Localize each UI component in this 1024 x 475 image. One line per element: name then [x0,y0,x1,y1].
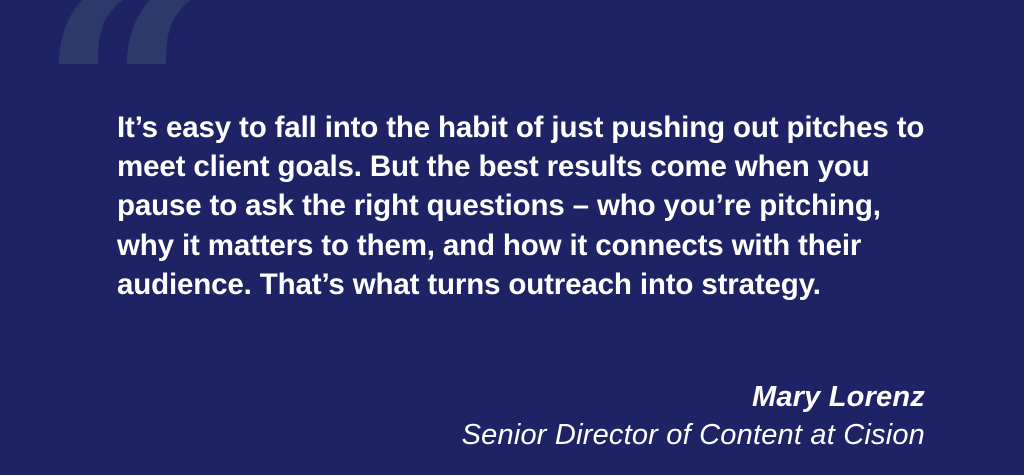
quote-line: why it matters to them, and how it conne… [117,226,927,265]
quote-slide: “ It’s easy to fall into the habit of ju… [0,0,1024,475]
attribution-block: Mary Lorenz Senior Director of Content a… [462,378,925,454]
attribution-name: Mary Lorenz [462,378,925,416]
quote-line: pause to ask the right questions – who y… [117,186,927,225]
quote-line: It’s easy to fall into the habit of just… [117,108,927,147]
quote-text-block: It’s easy to fall into the habit of just… [117,108,927,304]
quote-line: meet client goals. But the best results … [117,147,927,186]
attribution-title: Senior Director of Content at Cision [462,416,925,454]
quote-line: audience. That’s what turns outreach int… [117,265,927,304]
